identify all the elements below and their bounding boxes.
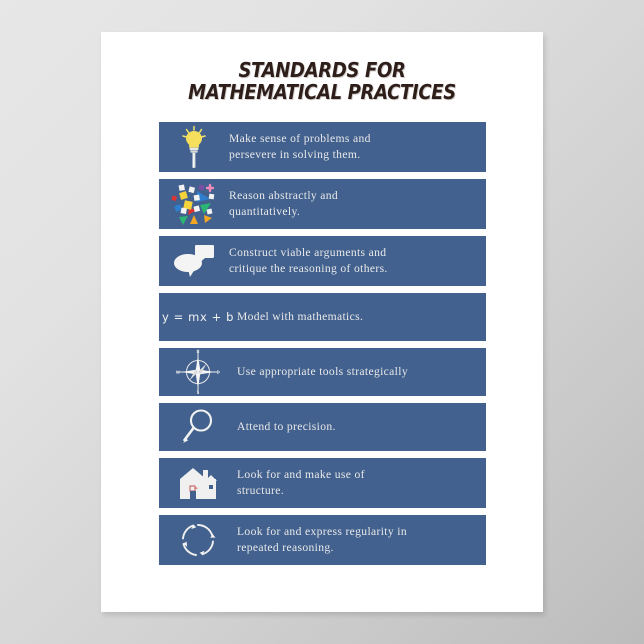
practice-text-7-line-2: structure. [237,483,365,499]
practice-text-4-line-1: Model with mathematics. [237,309,363,325]
practice-text-1: Make sense of problems and persevere in … [229,131,379,164]
title-line-1: STANDARDS FOR [128,60,517,82]
practice-text-3: Construct viable arguments and critique … [229,245,396,278]
practice-row-5[interactable]: N S W E Use appropriate tools strategica… [159,348,486,396]
practice-text-5-line-1: Use appropriate tools strategically [237,364,408,380]
practice-text-2-line-1: Reason abstractly and [229,188,338,204]
poster-canvas: STANDARDS FOR MATHEMATICAL PRACTICES [101,32,543,612]
practice-row-6[interactable]: Attend to precision. [159,403,486,451]
practice-text-2: Reason abstractly and quantitatively. [229,188,346,221]
practice-text-8-line-1: Look for and express regularity in [237,524,407,540]
compass-rose-icon: N S W E [159,348,237,396]
shapes-confetti-icon [159,179,229,229]
practice-text-4: Model with mathematics. [237,309,371,325]
practice-row-3[interactable]: Construct viable arguments and critique … [159,236,486,286]
equation-icon: y = mx + b [159,293,237,341]
practice-text-7-line-1: Look for and make use of [237,467,365,483]
practice-text-5: Use appropriate tools strategically [237,364,416,380]
practice-text-7: Look for and make use of structure. [237,467,373,500]
practice-text-6-line-1: Attend to precision. [237,419,336,435]
practice-row-1[interactable]: Make sense of problems and persevere in … [159,122,486,172]
equation-text: y = mx + b [162,310,234,324]
poster-scene: STANDARDS FOR MATHEMATICAL PRACTICES [0,0,644,644]
practice-text-8-line-2: repeated reasoning. [237,540,407,556]
practice-list: Make sense of problems and persevere in … [159,122,486,572]
practice-text-1-line-1: Make sense of problems and [229,131,371,147]
svg-text:S: S [197,390,200,395]
practice-text-3-line-2: critique the reasoning of others. [229,261,388,277]
circular-arrows-icon [159,515,237,565]
practice-row-2[interactable]: Reason abstractly and quantitatively. [159,179,486,229]
house-structure-icon [159,458,237,508]
magnifying-glass-icon [159,403,237,451]
practice-text-6: Attend to precision. [237,419,344,435]
svg-text:W: W [176,370,180,375]
practice-text-3-line-1: Construct viable arguments and [229,245,388,261]
svg-text:N: N [197,349,200,354]
speech-bubbles-icon [159,236,229,286]
practice-text-8: Look for and express regularity in repea… [237,524,415,557]
practice-text-2-line-2: quantitatively. [229,204,338,220]
practice-row-4[interactable]: y = mx + b Model with mathematics. [159,293,486,341]
poster-title: STANDARDS FOR MATHEMATICAL PRACTICES [101,60,543,103]
practice-row-7[interactable]: Look for and make use of structure. [159,458,486,508]
title-line-2: MATHEMATICAL PRACTICES [128,82,517,104]
practice-text-1-line-2: persevere in solving them. [229,147,371,163]
practice-row-8[interactable]: Look for and express regularity in repea… [159,515,486,565]
lightbulb-icon [159,122,229,172]
